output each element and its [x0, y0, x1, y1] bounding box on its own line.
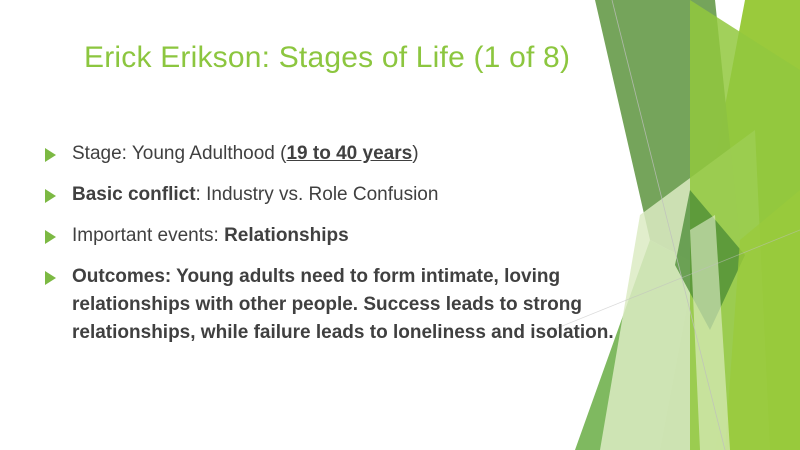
bullet-text-basic-conflict: Basic conflict: Industry vs. Role Confus…: [72, 181, 624, 209]
presentation-slide: Erick Erikson: Stages of Life (1 of 8) S…: [0, 0, 800, 450]
bullet-segment: Important events:: [72, 225, 224, 246]
bullet-text-important-events: Important events: Relationships: [72, 222, 624, 250]
bullet-item-important-events: Important events: Relationships: [44, 222, 624, 250]
bullet-item-basic-conflict: Basic conflict: Industry vs. Role Confus…: [44, 181, 624, 209]
decor-shape-deep-accent: [675, 190, 745, 330]
bullet-segment-emphasis: 19 to 40 years: [286, 143, 412, 164]
decor-shape-pale-sheet: [600, 130, 770, 450]
bullet-triangle-icon: [45, 148, 56, 162]
bullet-segment: Stage: Young Adulthood (: [72, 143, 286, 164]
slide-body: Stage: Young Adulthood (19 to 40 years) …: [44, 140, 624, 347]
bullet-segment: ): [412, 143, 418, 164]
decor-shape-bright-overlay: [690, 0, 800, 450]
bullet-segment-emphasis: Relationships: [224, 225, 349, 246]
bullet-triangle-icon: [45, 271, 56, 285]
slide-title: Erick Erikson: Stages of Life (1 of 8): [84, 38, 604, 78]
decor-hairline-diagonal-upper: [612, 0, 725, 450]
bullet-item-stage: Stage: Young Adulthood (19 to 40 years): [44, 140, 624, 168]
bullet-item-outcomes: Outcomes: Young adults need to form inti…: [44, 263, 624, 347]
bullet-triangle-icon: [45, 189, 56, 203]
bullet-triangle-icon: [45, 230, 56, 244]
bullet-text-stage: Stage: Young Adulthood (19 to 40 years): [72, 140, 624, 168]
bullet-segment: : Industry vs. Role Confusion: [196, 184, 439, 205]
bullet-segment-emphasis: Basic conflict: [72, 184, 196, 205]
decor-shape-bright-right: [660, 0, 800, 450]
decor-shape-pale-sliver: [690, 215, 730, 450]
bullet-text-outcomes: Outcomes: Young adults need to form inti…: [72, 263, 624, 347]
decor-shape-light-lower-right: [725, 190, 800, 450]
